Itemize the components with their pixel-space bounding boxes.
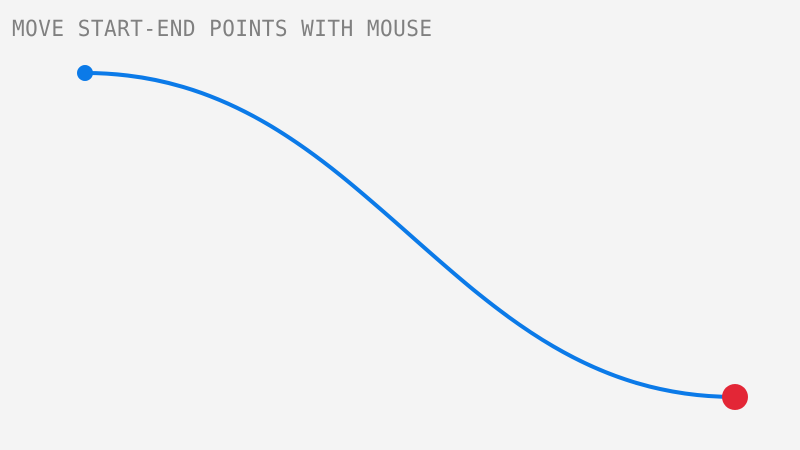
end-point-handle[interactable] [722,384,748,410]
bezier-curve [85,73,735,397]
bezier-canvas[interactable] [0,0,800,450]
bezier-demo-app: MOVE START-END POINTS WITH MOUSE [0,0,800,450]
start-point-handle[interactable] [77,65,93,81]
